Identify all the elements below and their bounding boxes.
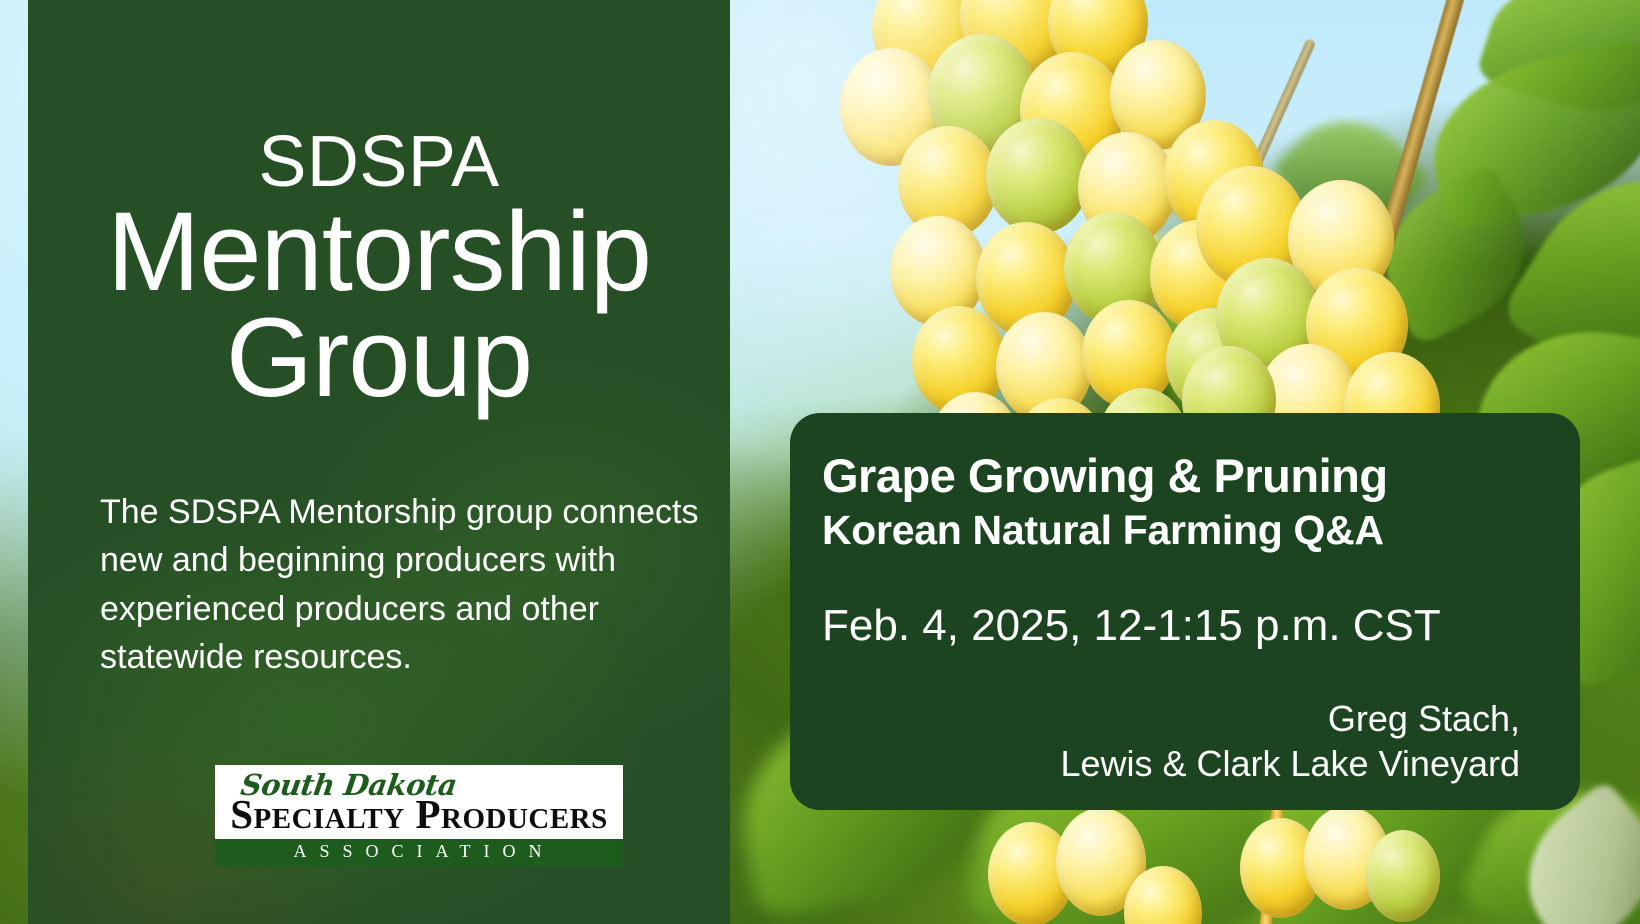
- speaker-block: Greg Stach, Lewis & Clark Lake Vineyard: [822, 696, 1536, 786]
- panel-body-text: The SDSPA Mentorship group connects new …: [100, 488, 720, 681]
- left-info-panel: SDSPA Mentorship Group The SDSPA Mentors…: [28, 0, 730, 924]
- sdspa-logo: South Dakota Specialty Producers ASSOCIA…: [215, 765, 623, 866]
- headline-line-1: SDSPA: [28, 126, 730, 198]
- headline-block: SDSPA Mentorship Group: [28, 126, 730, 414]
- speaker-name: Greg Stach,: [822, 696, 1520, 741]
- headline-line-3: Group: [28, 302, 730, 414]
- event-title-secondary: Korean Natural Farming Q&A: [822, 508, 1536, 554]
- event-datetime: Feb. 4, 2025, 12-1:15 p.m. CST: [822, 602, 1536, 650]
- event-poster: SDSPA Mentorship Group The SDSPA Mentors…: [0, 0, 1640, 924]
- event-details-card: Grape Growing & Pruning Korean Natural F…: [790, 413, 1580, 810]
- speaker-organization: Lewis & Clark Lake Vineyard: [822, 741, 1520, 786]
- logo-script-line: South Dakota: [213, 771, 625, 800]
- headline-line-2: Mentorship: [28, 196, 730, 308]
- logo-assoc-line: ASSOCIATION: [215, 839, 623, 866]
- event-title-primary: Grape Growing & Pruning: [822, 451, 1536, 502]
